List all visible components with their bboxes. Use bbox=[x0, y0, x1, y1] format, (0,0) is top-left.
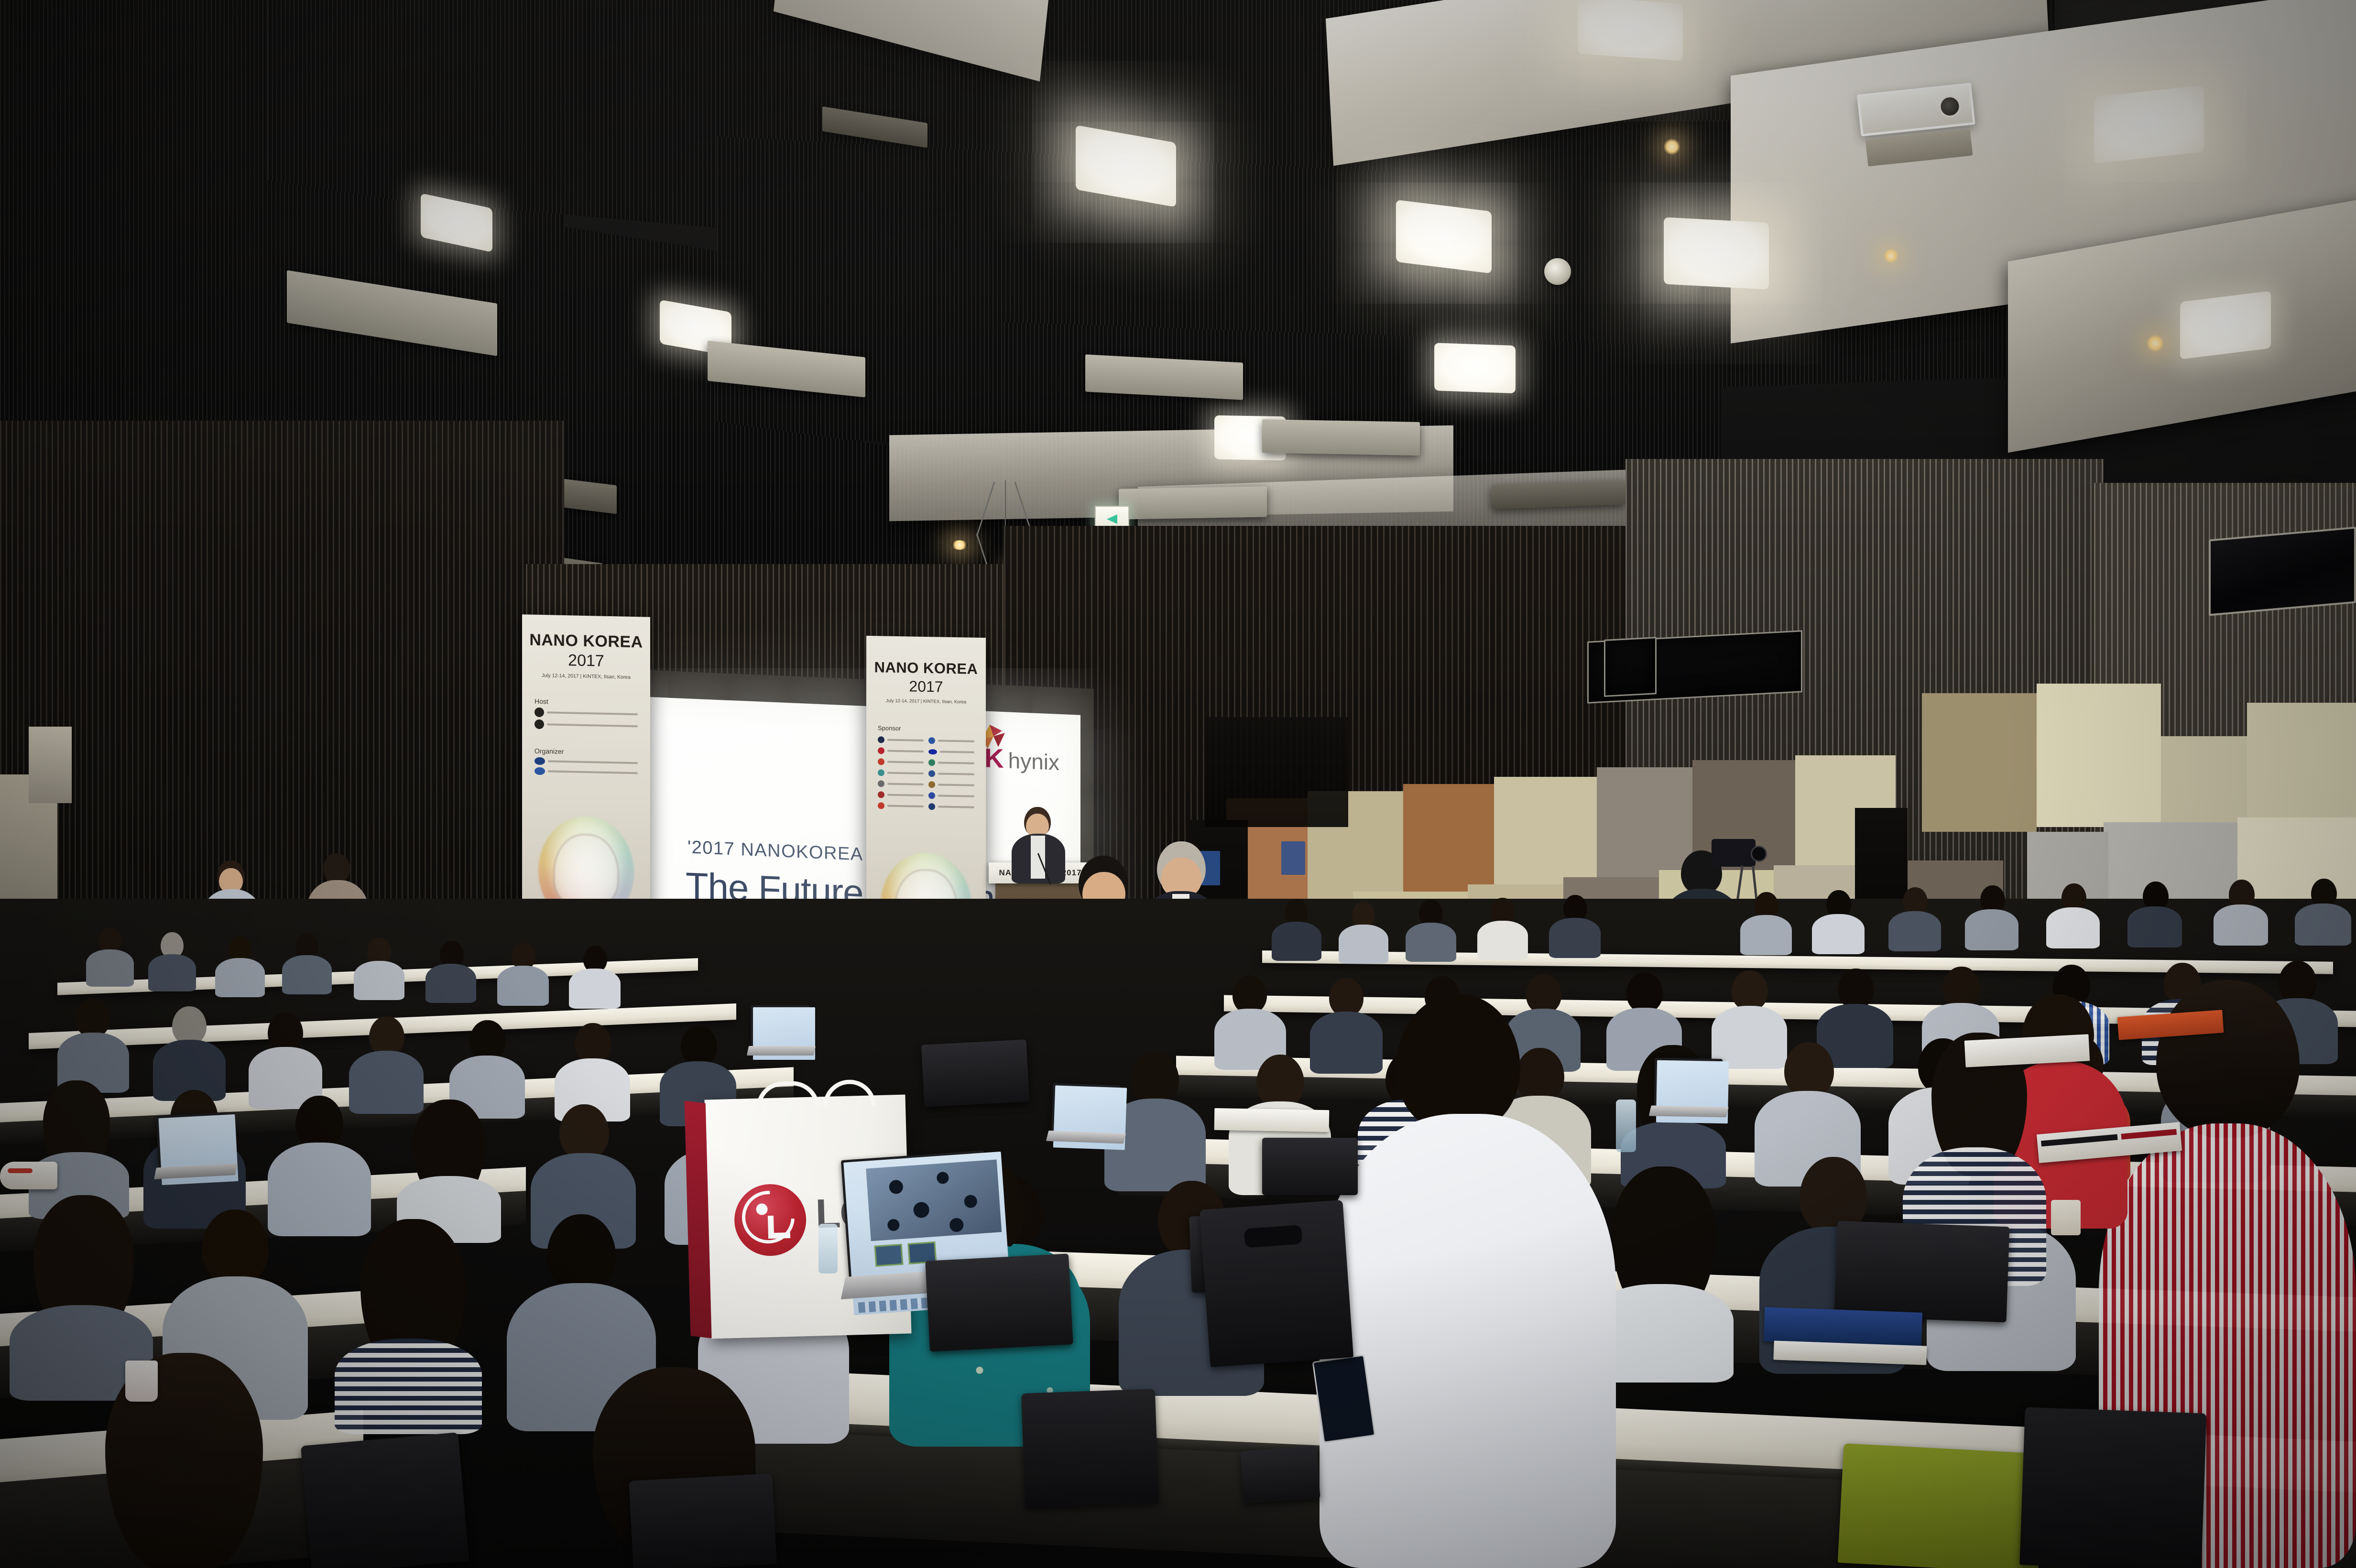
audience-member bbox=[1965, 885, 2018, 948]
hynix-wordmark: hynix bbox=[1008, 749, 1059, 774]
acoustic-panel bbox=[2247, 703, 2356, 817]
ceiling-speaker-icon bbox=[1544, 258, 1571, 285]
laptop[interactable] bbox=[751, 1005, 818, 1062]
shoe-stripe bbox=[8, 1168, 33, 1173]
audience-member bbox=[1477, 898, 1528, 958]
audience-member bbox=[397, 1100, 501, 1239]
audience-member bbox=[2295, 879, 2351, 944]
audience-member bbox=[1214, 975, 1286, 1067]
laptop-bag bbox=[925, 1253, 1073, 1351]
banner-left-section-host: Host bbox=[534, 697, 638, 708]
laptop[interactable] bbox=[1654, 1058, 1731, 1126]
chair-green[interactable] bbox=[1838, 1443, 2045, 1568]
paper-cup bbox=[125, 1361, 158, 1402]
banner-right-year: 2017 bbox=[866, 677, 986, 697]
wall-column-left bbox=[29, 727, 72, 803]
audience-member bbox=[1549, 895, 1601, 956]
audience-member bbox=[569, 946, 621, 1007]
audience-member bbox=[425, 941, 476, 1001]
audience-member bbox=[1406, 900, 1456, 960]
audience-member bbox=[1339, 902, 1388, 962]
audience-member bbox=[497, 943, 549, 1004]
slide-kicker: '2017 NANOKOREA bbox=[687, 837, 863, 865]
chair[interactable] bbox=[1200, 1200, 1353, 1367]
audience-member bbox=[282, 933, 332, 992]
chair[interactable] bbox=[2019, 1407, 2206, 1568]
acoustic-panel bbox=[2037, 684, 2161, 827]
acoustic-panel bbox=[1922, 693, 2037, 832]
audience-member bbox=[1888, 887, 1941, 949]
lecture-hall-photo: SK hynix '2017 NANOKOREA The Future of M… bbox=[0, 0, 2356, 1568]
audience-member bbox=[148, 932, 196, 990]
banner-left-year: 2017 bbox=[522, 650, 650, 672]
exit-arrow-icon bbox=[1107, 514, 1117, 524]
shoe bbox=[0, 1162, 57, 1189]
rear-door[interactable] bbox=[1205, 717, 1348, 827]
banner-right-section-sponsor: Sponsor bbox=[878, 724, 974, 733]
paper-cup bbox=[2051, 1200, 2081, 1235]
chair[interactable] bbox=[301, 1432, 469, 1568]
audience-member bbox=[57, 999, 129, 1090]
audience-member bbox=[2127, 882, 2182, 946]
wall-left-slats bbox=[0, 421, 564, 937]
audience-member bbox=[215, 936, 265, 995]
audience-member bbox=[2214, 880, 2268, 944]
directional-sign bbox=[1281, 841, 1305, 875]
audience-member-white-shirt bbox=[1320, 994, 1616, 1568]
audience-member bbox=[249, 1013, 322, 1106]
audience-member bbox=[86, 927, 134, 985]
wallet bbox=[1240, 1446, 1320, 1504]
banner-right-title: NANO KOREA bbox=[866, 659, 986, 678]
laptop-bag bbox=[1834, 1221, 2010, 1322]
audience-member bbox=[1740, 892, 1792, 953]
audience-member-foreground bbox=[86, 1353, 287, 1568]
chair[interactable] bbox=[1021, 1389, 1159, 1508]
chair[interactable] bbox=[629, 1473, 777, 1568]
laptop[interactable] bbox=[1051, 1083, 1130, 1152]
audience-member bbox=[354, 938, 404, 998]
banner-left-section-organizer: Organizer bbox=[534, 747, 638, 757]
wall-display-right bbox=[2209, 527, 2356, 616]
control-booth-window-small bbox=[1604, 637, 1657, 697]
banner-right-subtitle: July 12-14, 2017 | KINTEX, Ilsan, Korea bbox=[866, 698, 986, 705]
audience-member bbox=[153, 1006, 226, 1098]
acoustic-panel bbox=[1494, 777, 1597, 894]
audience-member bbox=[29, 1080, 129, 1214]
audience-member bbox=[335, 1219, 482, 1429]
lg-logo-icon bbox=[733, 1183, 807, 1257]
banner-left-title: NANO KOREA bbox=[522, 631, 650, 652]
ceiling-projector-right bbox=[1857, 83, 1977, 156]
smartphone[interactable] bbox=[1312, 1354, 1376, 1443]
audience-member bbox=[1812, 890, 1865, 952]
audience-member bbox=[2046, 883, 2100, 947]
shoulder-bag bbox=[1262, 1138, 1358, 1195]
banner-left-subtitle: July 12-14, 2017 | KINTEX, Ilsan, Korea bbox=[522, 672, 650, 681]
audience-member bbox=[1272, 899, 1321, 959]
notebook bbox=[1214, 1108, 1330, 1132]
shoulder-bag bbox=[921, 1039, 1030, 1107]
water-bottle bbox=[818, 1224, 838, 1274]
laptop[interactable] bbox=[156, 1112, 241, 1188]
acoustic-panel bbox=[1403, 784, 1494, 896]
water-bottle bbox=[1616, 1100, 1636, 1152]
